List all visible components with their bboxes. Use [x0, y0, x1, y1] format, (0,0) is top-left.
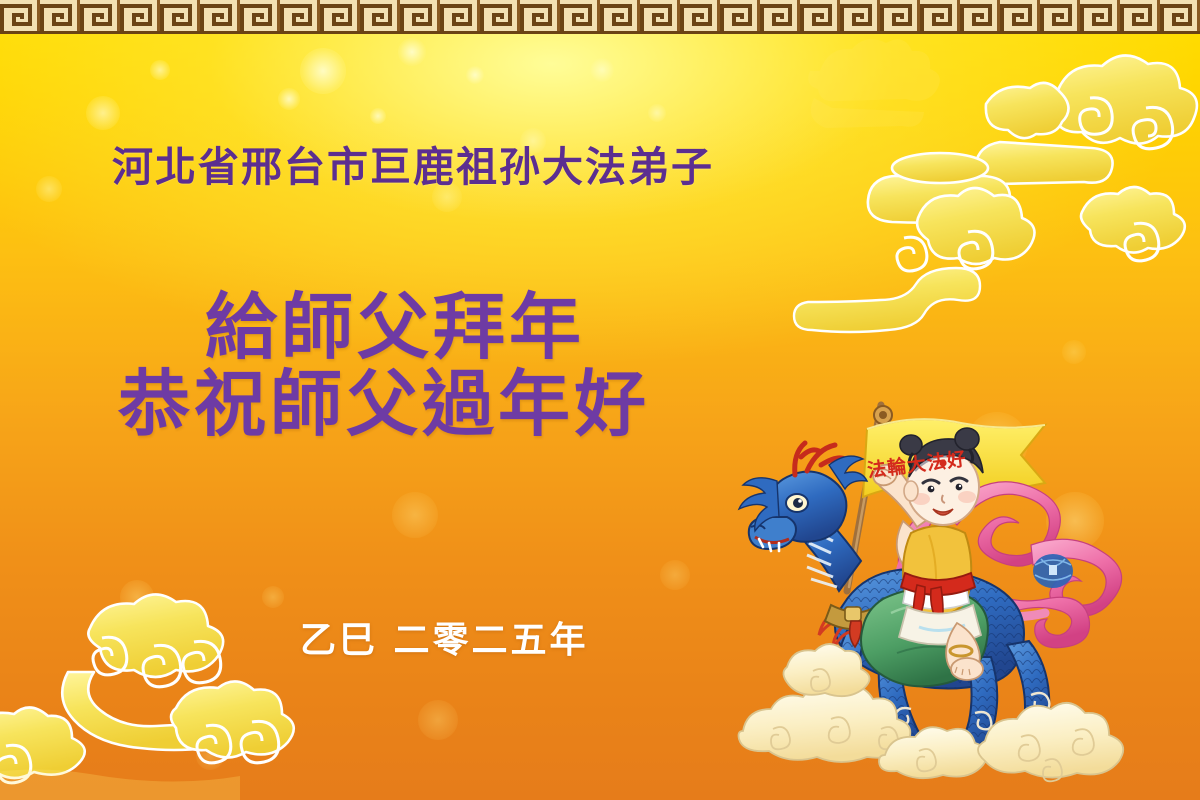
new-year-greeting-card: 河北省邢台市巨鹿祖孙大法弟子 給師父拜年 恭祝師父過年好 乙巳 二零二五年: [0, 0, 1200, 800]
bokeh-light: [660, 560, 690, 590]
bokeh-light: [648, 104, 666, 122]
auspicious-cloud-bottom-left: [0, 580, 320, 800]
child-riding-qilin-illustration: [735, 395, 1135, 795]
bokeh-light: [370, 108, 386, 124]
cloud-icon: [790, 46, 1200, 376]
bokeh-light: [466, 66, 484, 84]
sender-line: 河北省邢台市巨鹿祖孙大法弟子: [112, 133, 714, 193]
bokeh-light: [1062, 340, 1086, 364]
cloud-icon: [0, 580, 320, 800]
meander-pattern-icon: [0, 0, 1200, 31]
bokeh-light: [590, 58, 614, 82]
bokeh-light: [398, 38, 426, 66]
bokeh-light: [150, 60, 170, 80]
bokeh-light: [196, 742, 224, 770]
greek-key-border: [0, 0, 1200, 34]
qilin-and-child-icon: [735, 395, 1135, 795]
greeting-line-2: 恭祝師父過年好: [118, 345, 650, 450]
bokeh-light: [392, 492, 438, 538]
bokeh-light: [120, 580, 154, 614]
bokeh-light: [262, 586, 284, 608]
bokeh-light: [86, 96, 120, 130]
bokeh-light: [36, 176, 62, 202]
bokeh-light: [278, 88, 300, 110]
bokeh-light: [418, 700, 458, 740]
tassel: [1033, 554, 1073, 588]
auspicious-cloud-top-right: [790, 46, 1200, 376]
date-line: 乙巳 二零二五年: [300, 611, 589, 663]
bokeh-light: [300, 48, 346, 94]
